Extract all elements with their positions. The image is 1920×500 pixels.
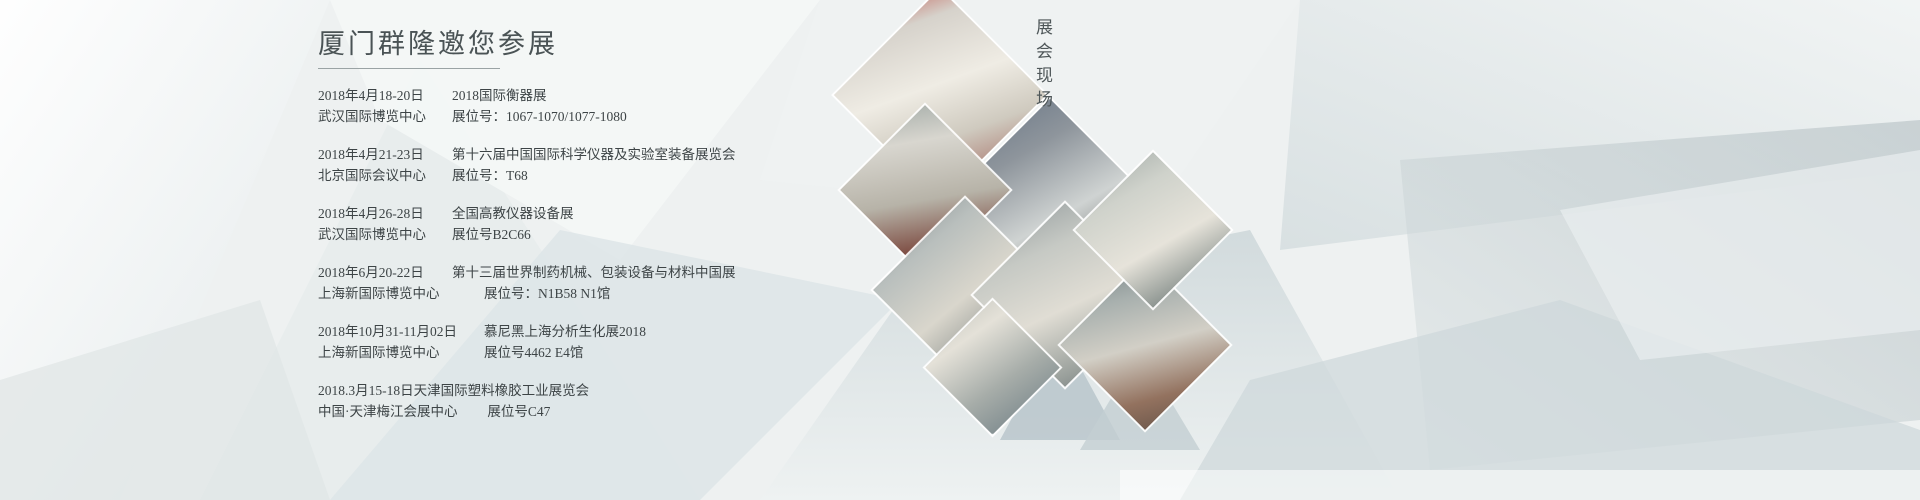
entry-booth: 展位号4462 E4馆 xyxy=(468,342,583,363)
entry-booth: 展位号：1067-1070/1077-1080 xyxy=(436,106,627,127)
entry-name: 慕尼黑上海分析生化展2018 xyxy=(468,321,646,342)
entry-booth: 展位号B2C66 xyxy=(436,224,531,245)
entry-date: 2018年4月18-20日 xyxy=(318,85,436,106)
entry-venue: 北京国际会议中心 xyxy=(318,165,436,186)
entry-venue: 中国·天津梅江会展中心 xyxy=(318,401,468,422)
entry-name: 第十六届中国国际科学仪器及实验室装备展览会 xyxy=(436,144,736,165)
entry-venue: 武汉国际博览中心 xyxy=(318,224,436,245)
entry-name: 全国高教仪器设备展 xyxy=(436,203,574,224)
entry-venue: 上海新国际博览中心 xyxy=(318,342,468,363)
vertical-label: 展会现场 xyxy=(1030,18,1055,114)
exhibition-banner: 厦门群隆邀您参展 2018年4月18-20日 2018国际衡器展 武汉国际博览中… xyxy=(0,0,1920,500)
entry-booth: 展位号：N1B58 N1馆 xyxy=(468,283,610,304)
entry-venue: 上海新国际博览中心 xyxy=(318,283,468,304)
entry-date: 2018年6月20-22日 xyxy=(318,262,436,283)
entry-booth: 展位号：T68 xyxy=(436,165,528,186)
entry-date: 2018年10月31-11月02日 xyxy=(318,321,468,342)
entry-name: 2018国际衡器展 xyxy=(436,85,547,106)
entry-date: 2018年4月26-28日 xyxy=(318,203,436,224)
entry-booth: 展位号C47 xyxy=(471,401,550,422)
entry-date: 2018年4月21-23日 xyxy=(318,144,436,165)
entry-name: 第十三届世界制药机械、包装设备与材料中国展 xyxy=(436,262,736,283)
entry-venue: 武汉国际博览中心 xyxy=(318,106,436,127)
title-divider xyxy=(318,68,500,69)
